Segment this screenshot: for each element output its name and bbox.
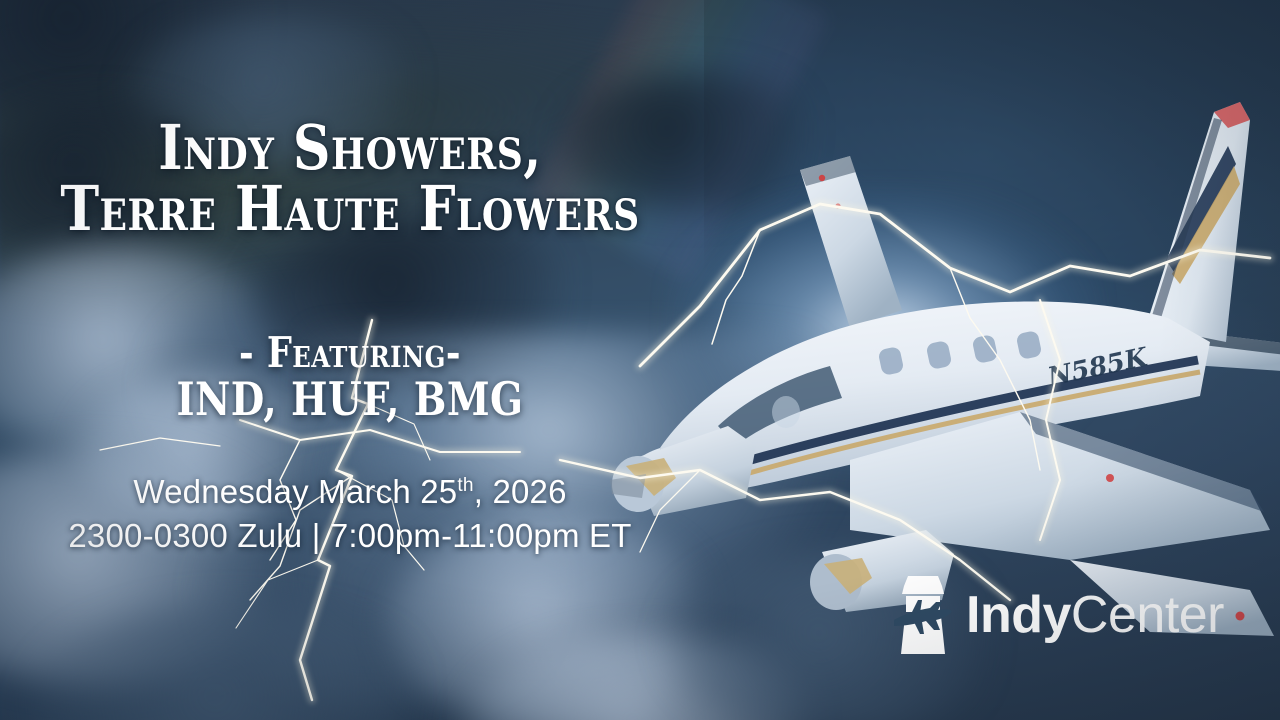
featuring-airports: IND, HUF, BMG xyxy=(56,375,644,425)
logo-wordmark: IndyCenter xyxy=(966,589,1224,641)
logo-indy: Indy xyxy=(966,586,1071,644)
schedule-block: Wednesday March 25th, 2026 2300-0300 Zul… xyxy=(0,470,700,557)
featuring-block: - Featuring- IND, HUF, BMG xyxy=(56,330,644,425)
event-date: Wednesday March 25th, 2026 xyxy=(0,470,700,514)
featuring-label: - Featuring- xyxy=(56,330,644,375)
logo-center: Center xyxy=(1071,586,1224,644)
event-date-prefix: Wednesday March 25 xyxy=(133,473,457,510)
event-date-ordinal: th xyxy=(457,475,473,496)
event-date-suffix: , 2026 xyxy=(474,473,567,510)
event-times: 2300-0300 Zulu | 7:00pm-11:00pm ET xyxy=(0,514,700,558)
title-line-2: Terre Haute Flowers xyxy=(56,179,644,240)
text-content: Indy Showers, Terre Haute Flowers - Feat… xyxy=(0,0,700,720)
indycenter-logo: IndyCenter xyxy=(892,572,1224,658)
control-tower-airplane-icon xyxy=(892,572,954,658)
event-banner: N585K xyxy=(0,0,1280,720)
title-line-1: Indy Showers, xyxy=(56,118,644,179)
page-title: Indy Showers, Terre Haute Flowers xyxy=(56,118,644,240)
